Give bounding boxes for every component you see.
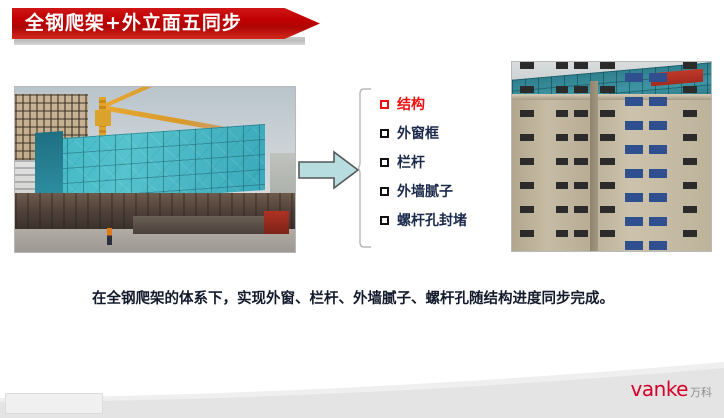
window-column <box>600 62 616 251</box>
flow-arrow-icon <box>298 150 360 190</box>
worker-figure <box>107 228 112 245</box>
flatbed-truck <box>133 216 273 234</box>
slide-canvas: 全钢爬架+外立面五同步 结构 <box>0 0 724 418</box>
list-item-label: 结构 <box>397 98 425 112</box>
footer-placeholder-box <box>5 393 103 414</box>
window-column <box>556 62 568 251</box>
photo-right-scene <box>512 62 711 251</box>
square-bullet-icon <box>380 216 389 225</box>
page-title: 全钢爬架+外立面五同步 <box>25 14 242 33</box>
window-column <box>520 62 534 251</box>
list-item-label: 外窗框 <box>397 127 439 141</box>
square-bullet-icon <box>380 129 389 138</box>
list-item-label: 外墙腻子 <box>397 185 453 199</box>
list-item-luoganfengdu[interactable]: 螺杆孔封堵 <box>380 206 520 235</box>
list-item-waichuangkuang[interactable]: 外窗框 <box>380 119 520 148</box>
window-column <box>574 62 588 251</box>
list-item-label: 栏杆 <box>397 156 425 170</box>
balcony-railing-column <box>625 73 643 251</box>
window-column <box>683 62 697 251</box>
facade-recess <box>590 81 598 251</box>
list-item-langan[interactable]: 栏杆 <box>380 148 520 177</box>
footer-swoosh-decoration <box>0 362 724 418</box>
square-bullet-icon <box>380 158 389 167</box>
list-item-label: 螺杆孔封堵 <box>397 214 467 228</box>
logo-cjk-text: 万科 <box>690 387 712 398</box>
balcony-railing-column <box>649 73 667 251</box>
truck-cab <box>264 211 289 234</box>
building-facade-photo <box>511 61 712 252</box>
slide-caption: 在全钢爬架的体系下，实现外窗、栏杆、外墙腻子、螺杆孔随结构进度同步完成。 <box>62 288 662 310</box>
crane-cab <box>95 110 111 126</box>
scaffold-shadow-face <box>35 131 63 199</box>
construction-site-photo <box>14 86 296 253</box>
vanke-logo: vanke 万科 <box>631 379 712 399</box>
sync-item-list: 结构 外窗框 栏杆 外墙腻子 螺杆孔封堵 <box>380 90 520 235</box>
square-bullet-icon <box>380 187 389 196</box>
square-bullet-icon <box>380 100 389 109</box>
title-banner: 全钢爬架+外立面五同步 <box>12 8 320 39</box>
list-item-waiqiangnizi[interactable]: 外墙腻子 <box>380 177 520 206</box>
logo-latin-text: vanke <box>631 379 688 399</box>
photo-left-scene <box>15 87 295 252</box>
list-bracket <box>358 88 372 248</box>
list-item-jiegou[interactable]: 结构 <box>380 90 520 119</box>
